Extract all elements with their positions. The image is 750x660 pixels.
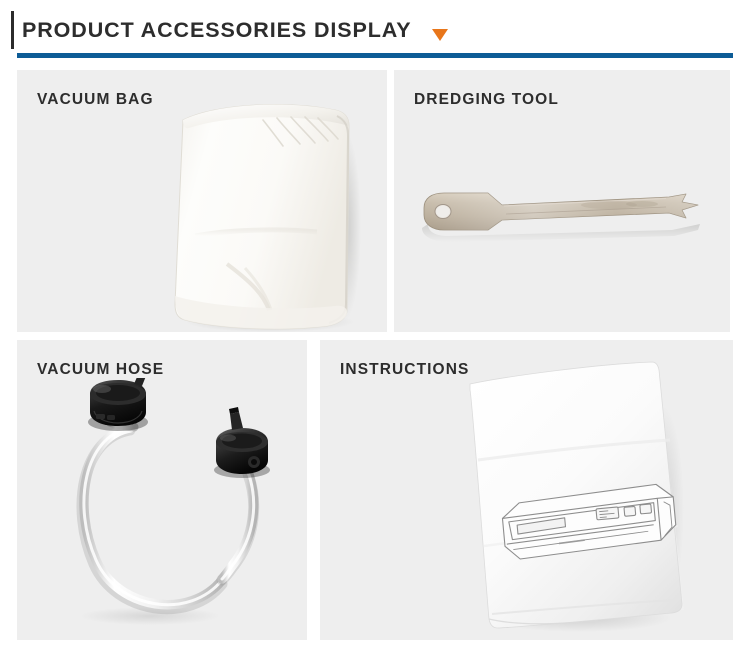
instructions-manual-image	[448, 360, 698, 635]
card-title-dredging-tool: DREDGING TOOL	[414, 92, 559, 108]
card-title-vacuum-hose: VACUUM HOSE	[37, 362, 164, 378]
page-title: PRODUCT ACCESSORIES DISPLAY	[22, 20, 411, 42]
page-header: PRODUCT ACCESSORIES DISPLAY	[0, 0, 750, 62]
card-title-vacuum-bag: VACUUM BAG	[37, 92, 154, 108]
header-underline-bar	[17, 53, 733, 58]
vacuum-hose-image	[72, 378, 297, 628]
product-card-vacuum-hose[interactable]: VACUUM HOSE	[17, 340, 307, 640]
header-left-accent-bar	[11, 11, 14, 49]
product-card-instructions[interactable]: INSTRUCTIONS	[320, 340, 733, 640]
vacuum-bag-image	[167, 96, 367, 332]
product-card-dredging-tool[interactable]: DREDGING TOOL	[394, 70, 730, 332]
card-title-instructions: INSTRUCTIONS	[340, 362, 469, 378]
triangle-down-icon	[432, 29, 448, 41]
dredging-tool-image	[414, 180, 714, 250]
product-card-vacuum-bag[interactable]: VACUUM BAG	[17, 70, 387, 332]
